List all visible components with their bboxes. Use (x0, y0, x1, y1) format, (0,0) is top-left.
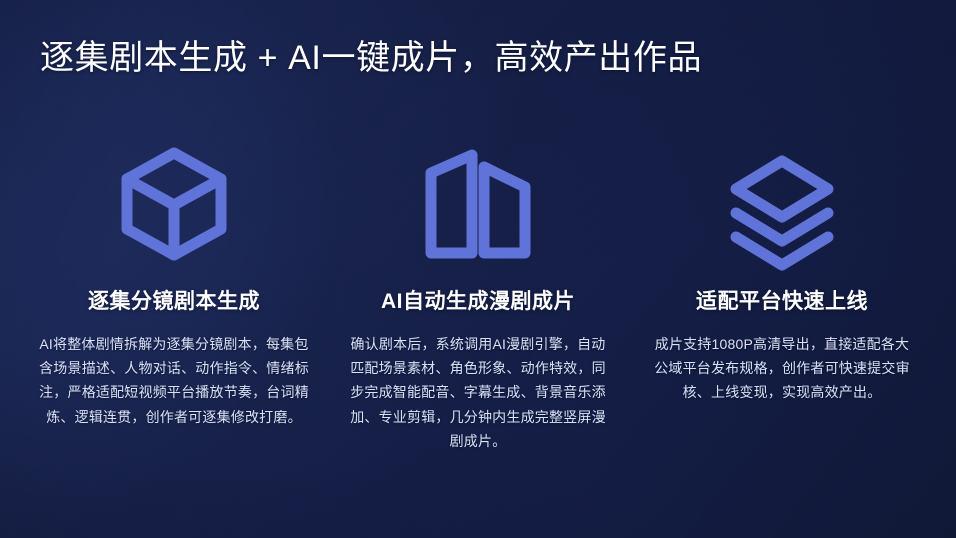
feature-columns: 逐集分镜剧本生成 AI将整体剧情拆解为逐集分镜剧本，每集包含场景描述、人物对话、… (0, 140, 956, 453)
slide-title: 逐集剧本生成 + AI一键成片，高效产出作品 (40, 38, 702, 79)
feature-card-2: AI自动生成漫剧成片 确认剧本后，系统调用AI漫剧引擎，自动匹配场景素材、角色形… (326, 140, 630, 453)
layers-icon (718, 140, 846, 268)
feature-title: 适配平台快速上线 (696, 288, 868, 315)
presentation-slide: 逐集剧本生成 + AI一键成片，高效产出作品 逐集分镜剧本生成 AI将整体剧情拆… (0, 0, 956, 538)
feature-description: 成片支持1080P高清导出，直接适配各大公域平台发布规格，创作者可快速提交审核、… (650, 332, 914, 404)
cube-icon (110, 140, 238, 268)
feature-title: AI自动生成漫剧成片 (381, 288, 575, 315)
panels-icon (414, 140, 542, 268)
feature-card-3: 适配平台快速上线 成片支持1080P高清导出，直接适配各大公域平台发布规格，创作… (630, 140, 934, 453)
feature-card-1: 逐集分镜剧本生成 AI将整体剧情拆解为逐集分镜剧本，每集包含场景描述、人物对话、… (22, 140, 326, 453)
feature-description: 确认剧本后，系统调用AI漫剧引擎，自动匹配场景素材、角色形象、动作特效，同步完成… (344, 332, 612, 452)
feature-title: 逐集分镜剧本生成 (88, 288, 260, 315)
feature-description: AI将整体剧情拆解为逐集分镜剧本，每集包含场景描述、人物对话、动作指令、情绪标注… (38, 332, 310, 428)
